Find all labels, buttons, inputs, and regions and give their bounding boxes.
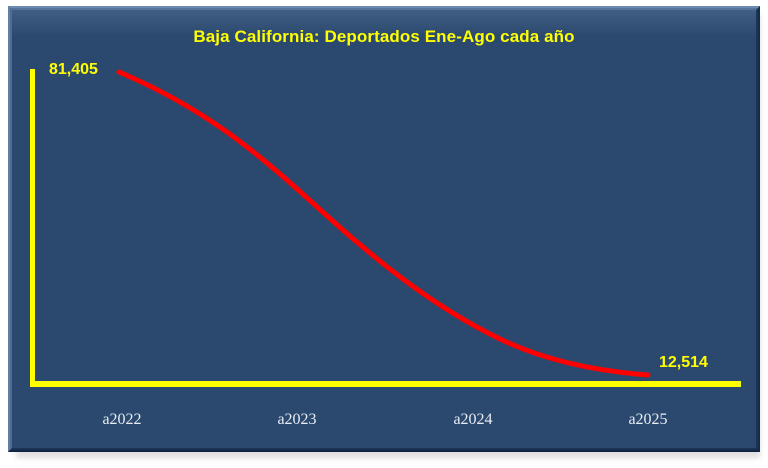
chart-container: Baja California: Deportados Ene-Ago cada… (0, 0, 768, 468)
series-line-deportados (119, 72, 648, 375)
x-tick-label-3: a2025 (588, 411, 708, 429)
x-tick-label-2: a2024 (413, 411, 533, 429)
plot-area: Baja California: Deportados Ene-Ago cada… (0, 0, 768, 468)
x-tick-label-1: a2023 (237, 411, 357, 429)
series-line-svg (0, 0, 768, 468)
x-tick-label-0: a2022 (62, 411, 182, 429)
data-label-first-point: 81,405 (49, 61, 98, 79)
data-label-last-point: 12,514 (659, 354, 708, 372)
